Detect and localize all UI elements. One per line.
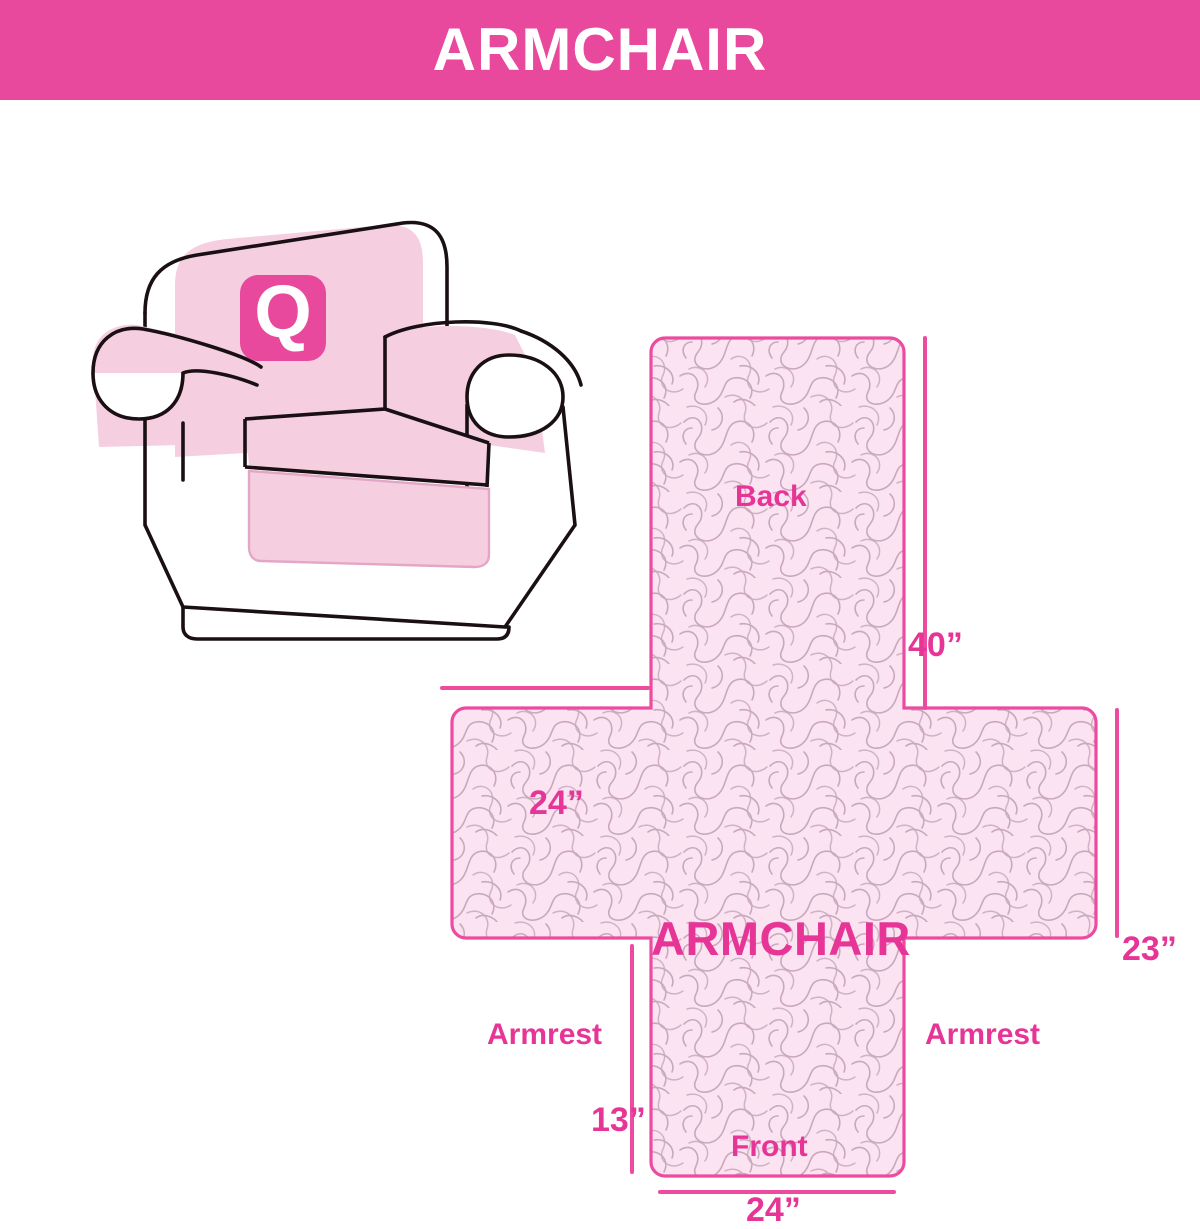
logo-letter-q: Q <box>254 270 312 353</box>
brand-logo-badge: Q <box>240 270 326 361</box>
dimension-front-width: 24” <box>746 1193 801 1227</box>
panel-label-armrest-left: Armrest <box>487 1020 602 1050</box>
dimension-front-height: 13” <box>591 1103 646 1137</box>
panel-label-armrest-right: Armrest <box>925 1020 1040 1050</box>
content-stage: Q <box>0 100 1200 1200</box>
dimension-back-width: 24” <box>529 786 584 820</box>
slipcover-cross-shape <box>420 320 1200 1200</box>
slipcover-layout-diagram <box>420 320 1200 1200</box>
dimension-center-height: 23” <box>1122 932 1177 966</box>
page-header: ARMCHAIR <box>0 0 1200 100</box>
page-title: ARMCHAIR <box>433 20 768 80</box>
panel-label-front: Front <box>731 1132 808 1162</box>
dimension-back-height: 40” <box>908 628 963 662</box>
panel-label-center: ARMCHAIR <box>651 915 911 962</box>
panel-label-back: Back <box>735 482 807 512</box>
